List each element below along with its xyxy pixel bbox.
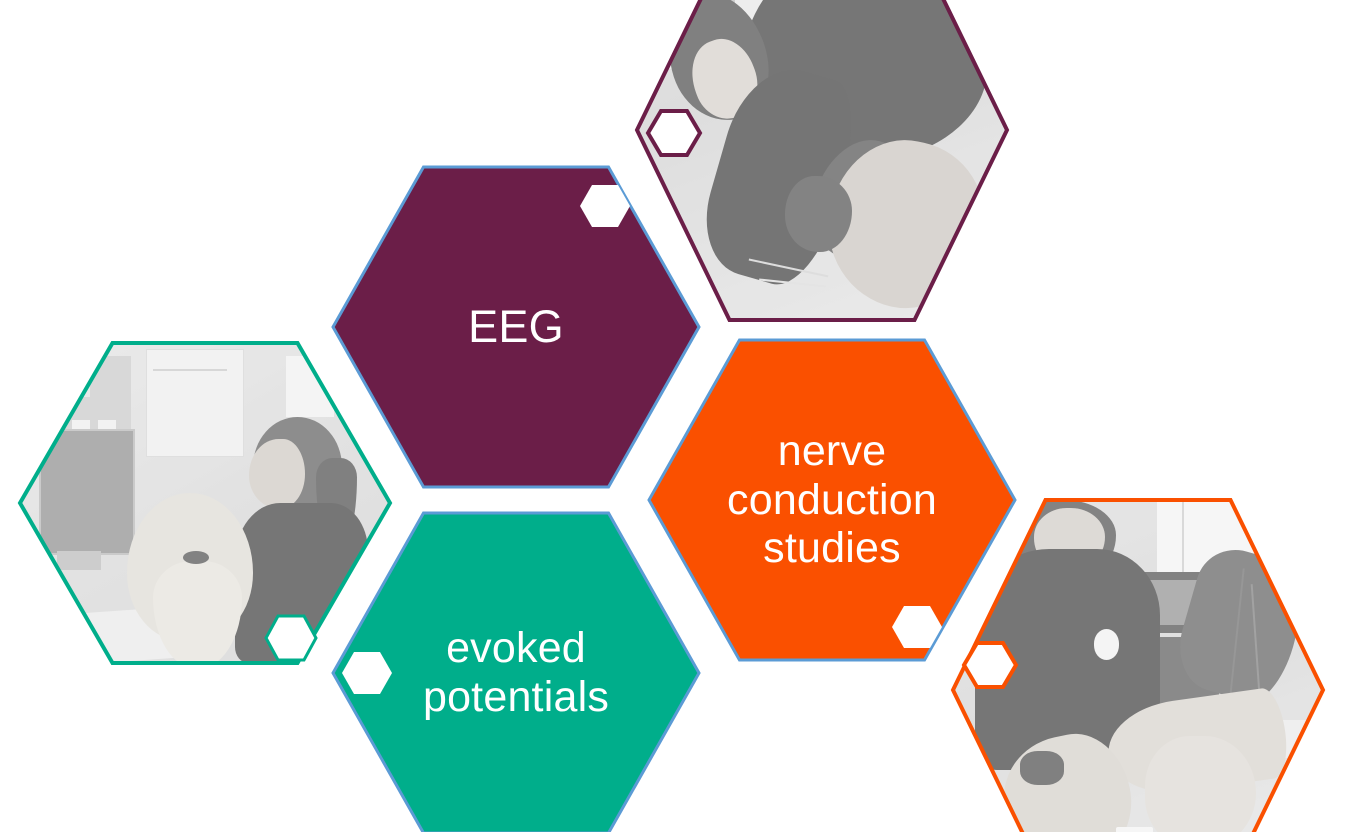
hexagon-infographic: EEG evoked potentials nerve conduction s… [0, 0, 1349, 832]
hex-cell-evoked-potentials[interactable]: evoked potentials [331, 511, 701, 832]
hexagon-marker-icon [266, 616, 316, 660]
hex-cell-eeg[interactable]: EEG [331, 165, 701, 489]
hex-evoked-shape [331, 511, 701, 832]
hex-eeg-fill [333, 167, 699, 487]
hexagon-marker-icon [648, 111, 700, 155]
hex-eeg-shape [331, 165, 701, 489]
hex-nerve-fill [649, 340, 1015, 660]
hex-nerve-shape [647, 338, 1017, 662]
hex-cell-nerve-conduction-studies[interactable]: nerve conduction studies [647, 338, 1017, 662]
